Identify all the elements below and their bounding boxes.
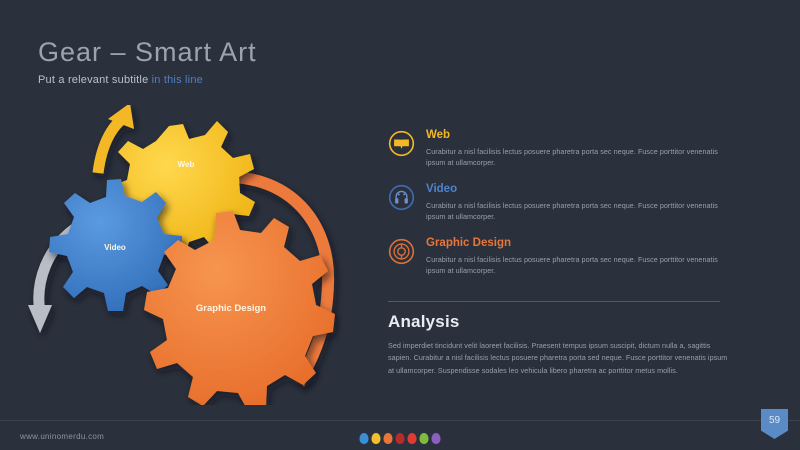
service-desc-video: Curabitur a nisl facilisis lectus posuer… [426, 200, 718, 222]
page-title: Gear – Smart Art [38, 38, 257, 68]
page-number-text: 59 [769, 415, 780, 426]
gear-web-label: Web [178, 160, 195, 169]
service-text-video: Video Curabitur a nisl facilisis lectus … [426, 182, 718, 222]
service-desc-web: Curabitur a nisl facilisis lectus posuer… [426, 146, 718, 168]
gear-video-label: Video [104, 243, 126, 252]
gear-diagram-svg: Web Video Graphic Design [18, 105, 368, 405]
headphones-icon [388, 184, 415, 211]
footer-dot-0 [360, 433, 369, 444]
service-item-web[interactable]: Web Curabitur a nisl facilisis lectus po… [388, 128, 718, 168]
footer-dot-3 [396, 433, 405, 444]
service-title-graphic: Graphic Design [426, 237, 718, 251]
footer-dot-5 [420, 433, 429, 444]
service-item-video[interactable]: Video Curabitur a nisl facilisis lectus … [388, 182, 718, 222]
subtitle-accent-text: in this line [152, 74, 203, 86]
service-text-web: Web Curabitur a nisl facilisis lectus po… [426, 128, 718, 168]
service-title-web: Web [426, 129, 718, 143]
book-icon [388, 130, 415, 157]
footer-color-dots [360, 433, 441, 444]
service-text-graphic: Graphic Design Curabitur a nisl facilisi… [426, 236, 718, 276]
service-title-video: Video [426, 183, 718, 197]
slide-subtitle: Put a relevant subtitle in this line [38, 74, 257, 86]
analysis-body-text: Sed imperdiet tincidunt velit laoreet fa… [388, 340, 728, 377]
footer-divider [0, 420, 800, 421]
footer-dot-1 [372, 433, 381, 444]
services-list: Web Curabitur a nisl facilisis lectus po… [388, 128, 718, 290]
service-item-graphic[interactable]: Graphic Design Curabitur a nisl facilisi… [388, 236, 718, 276]
service-desc-graphic: Curabitur a nisl facilisis lectus posuer… [426, 254, 718, 276]
analysis-title: Analysis [388, 312, 728, 332]
target-icon [388, 238, 415, 265]
footer-dot-4 [408, 433, 417, 444]
analysis-section: Analysis Sed imperdiet tincidunt velit l… [388, 312, 728, 377]
yellow-arrow [98, 105, 134, 173]
page-number-badge: 59 [761, 409, 788, 439]
footer-url[interactable]: www.uninomerdu.com [20, 432, 104, 441]
gear-diagram: Web Video Graphic Design [18, 105, 368, 405]
slide-header: Gear – Smart Art Put a relevant subtitle… [38, 38, 257, 86]
section-divider [388, 301, 720, 302]
gear-graphic-label: Graphic Design [196, 303, 266, 314]
footer-dot-2 [384, 433, 393, 444]
footer-dot-6 [432, 433, 441, 444]
subtitle-main-text: Put a relevant subtitle [38, 74, 152, 86]
